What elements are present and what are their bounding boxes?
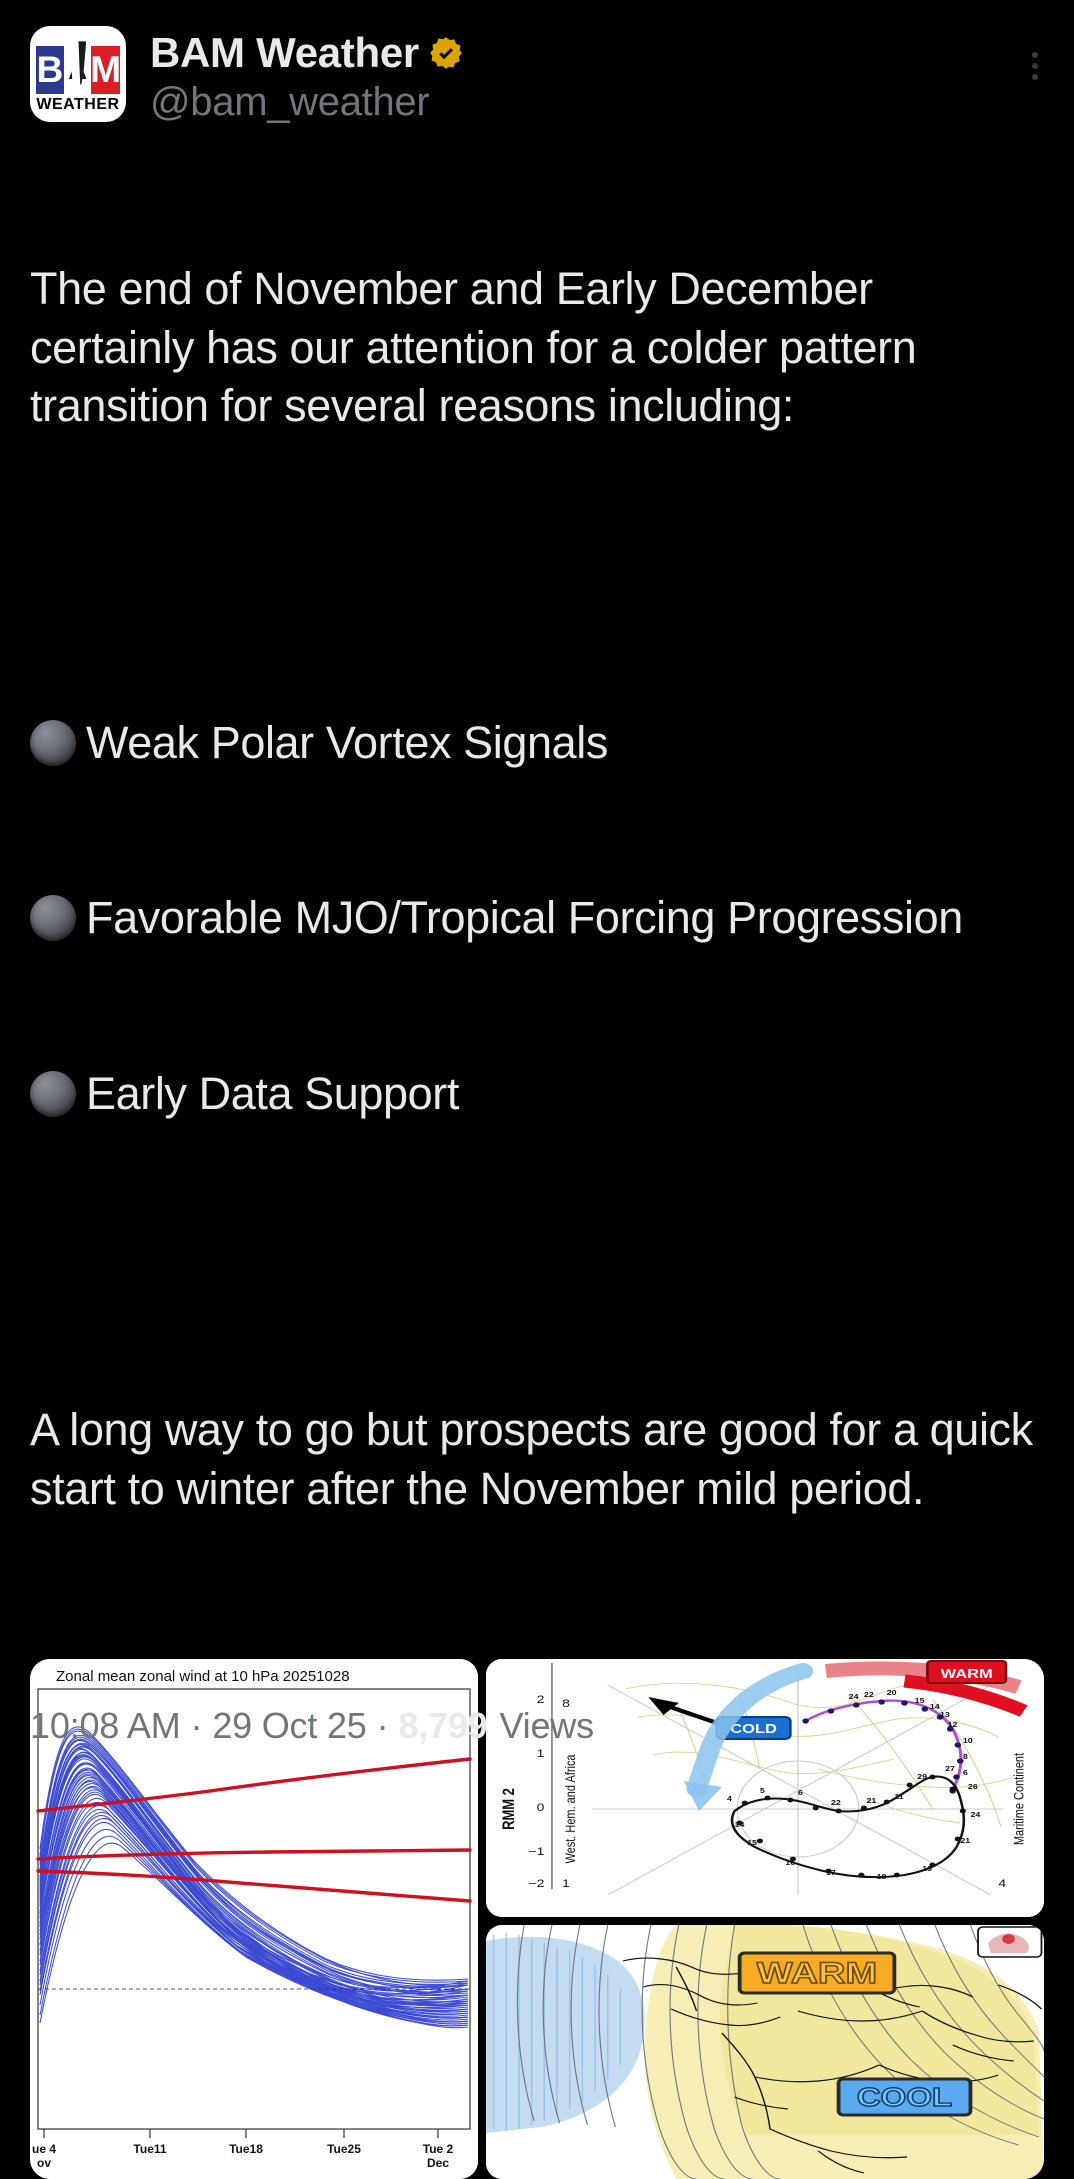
svg-text:29: 29 xyxy=(917,1773,927,1781)
tweet-container: B A M WEATHER BAM Weather @bam_weather xyxy=(0,0,1074,1781)
xtick-0b: ov xyxy=(37,2156,51,2170)
svg-text:22: 22 xyxy=(831,1799,841,1807)
bullet-label: Early Data Support xyxy=(86,1068,459,1119)
mjo-rmm-phase-diagram: 2 1 0 −1 −2 RMM 2 West. Hem. and Africa … xyxy=(486,1659,1044,1917)
logo-letter-b: B xyxy=(36,46,64,94)
svg-text:21: 21 xyxy=(866,1797,876,1805)
spacer xyxy=(30,553,1044,597)
spacer xyxy=(30,1240,1044,1284)
svg-text:20: 20 xyxy=(887,1689,897,1697)
account-names: BAM Weather @bam_weather xyxy=(150,26,463,125)
xtick-1: Tue11 xyxy=(133,2142,166,2156)
svg-text:21: 21 xyxy=(960,1837,970,1845)
footer-separator-1: · xyxy=(181,1705,213,1747)
ytick-1: 1 xyxy=(537,1748,545,1760)
xtick-4: Tue 2 xyxy=(423,2142,454,2156)
ylabel-rmm2: RMM 2 xyxy=(501,1788,519,1830)
views-label: Views xyxy=(500,1705,594,1747)
annotation-warm: WARM xyxy=(941,1668,993,1682)
logo-letter-m: M xyxy=(91,46,120,94)
svg-text:10: 10 xyxy=(963,1737,973,1745)
tweet-date: 29 Oct 25 xyxy=(212,1705,366,1747)
svg-text:15: 15 xyxy=(747,1839,757,1847)
svg-text:17: 17 xyxy=(826,1869,836,1877)
svg-text:8: 8 xyxy=(963,1753,969,1761)
sector-label-maritime: Maritime Continent xyxy=(1011,1753,1027,1846)
xtick-0: ue 4 xyxy=(32,2142,56,2156)
svg-text:13: 13 xyxy=(940,1711,950,1719)
bullet-item-1: Favorable MJO/Tropical Forcing Progressi… xyxy=(30,889,1044,948)
bullet-circle-icon xyxy=(30,1071,76,1117)
svg-text:14: 14 xyxy=(930,1703,940,1711)
tweet-footer: 10:08 AM · 29 Oct 25 · 8,799 Views xyxy=(30,1705,594,1747)
ytick-m1: −1 xyxy=(528,1846,544,1858)
svg-text:12: 12 xyxy=(948,1721,958,1729)
svg-text:6: 6 xyxy=(963,1769,969,1777)
ytick-m2: −2 xyxy=(528,1878,544,1890)
footer-separator-2: · xyxy=(367,1705,399,1747)
bullet-label: Favorable MJO/Tropical Forcing Progressi… xyxy=(86,892,963,943)
annotation-cool-map: COOL xyxy=(857,2084,952,2113)
annotation-warm-map: WARM xyxy=(757,1957,877,1990)
height-anomaly-map: WARM COOL xyxy=(486,1925,1044,2179)
verified-badge-icon xyxy=(429,36,463,70)
svg-text:16: 16 xyxy=(785,1859,795,1867)
svg-text:5: 5 xyxy=(760,1787,766,1795)
bullet-circle-icon xyxy=(30,895,76,941)
xtick-4b: Dec xyxy=(427,2156,449,2170)
avatar[interactable]: B A M WEATHER xyxy=(30,26,126,122)
display-name: BAM Weather xyxy=(150,30,419,75)
media-item-mjo-phase-diagram[interactable]: 2 1 0 −1 −2 RMM 2 West. Hem. and Africa … xyxy=(486,1659,1044,1917)
account-handle[interactable]: @bam_weather xyxy=(150,79,463,125)
svg-text:6: 6 xyxy=(798,1789,804,1797)
svg-text:11: 11 xyxy=(894,1793,904,1801)
svg-text:15: 15 xyxy=(915,1697,925,1705)
tweet-paragraph-2: A long way to go but prospects are good … xyxy=(30,1401,1044,1518)
bullet-label: Weak Polar Vortex Signals xyxy=(86,717,608,768)
tweet-time: 10:08 AM xyxy=(30,1705,181,1747)
logo-wordmark: WEATHER xyxy=(36,94,120,116)
display-name-row: BAM Weather xyxy=(150,30,463,75)
bullet-item-2: Early Data Support xyxy=(30,1065,1044,1124)
svg-text:26: 26 xyxy=(968,1783,978,1791)
svg-text:24: 24 xyxy=(970,1811,980,1819)
chart-title: Zonal mean zonal wind at 10 hPa 20251028 xyxy=(56,1668,350,1685)
bullet-item-0: Weak Polar Vortex Signals xyxy=(30,714,1044,773)
views-count: 8,799 xyxy=(398,1705,487,1747)
svg-text:19: 19 xyxy=(922,1865,932,1873)
xtick-2: Tue18 xyxy=(229,2142,263,2156)
bullet-circle-icon xyxy=(30,720,76,766)
media-item-height-anomaly-map[interactable]: WARM COOL xyxy=(486,1925,1044,2179)
tweet-paragraph-1: The end of November and Early December c… xyxy=(30,260,1044,436)
tweet-header: B A M WEATHER BAM Weather @bam_weather xyxy=(0,0,1074,125)
phase-label-4: 4 xyxy=(998,1878,1006,1890)
ytick-0: 0 xyxy=(537,1802,545,1814)
svg-text:4: 4 xyxy=(727,1795,733,1803)
xtick-3: Tue25 xyxy=(327,2142,361,2156)
tweet-text: The end of November and Early December c… xyxy=(0,125,1074,1635)
more-options-icon[interactable] xyxy=(1032,52,1038,80)
phase-label-1: 1 xyxy=(562,1878,570,1890)
svg-text:24: 24 xyxy=(849,1693,859,1701)
svg-text:27: 27 xyxy=(945,1765,955,1773)
annotation-cold: COLD xyxy=(730,1723,777,1737)
svg-text:22: 22 xyxy=(864,1691,874,1699)
sector-label-west-hem: West. Hem. and Africa xyxy=(563,1755,579,1864)
bam-weather-logo: B A M WEATHER xyxy=(36,46,120,108)
svg-text:14: 14 xyxy=(735,1821,745,1829)
svg-text:18: 18 xyxy=(877,1873,887,1881)
